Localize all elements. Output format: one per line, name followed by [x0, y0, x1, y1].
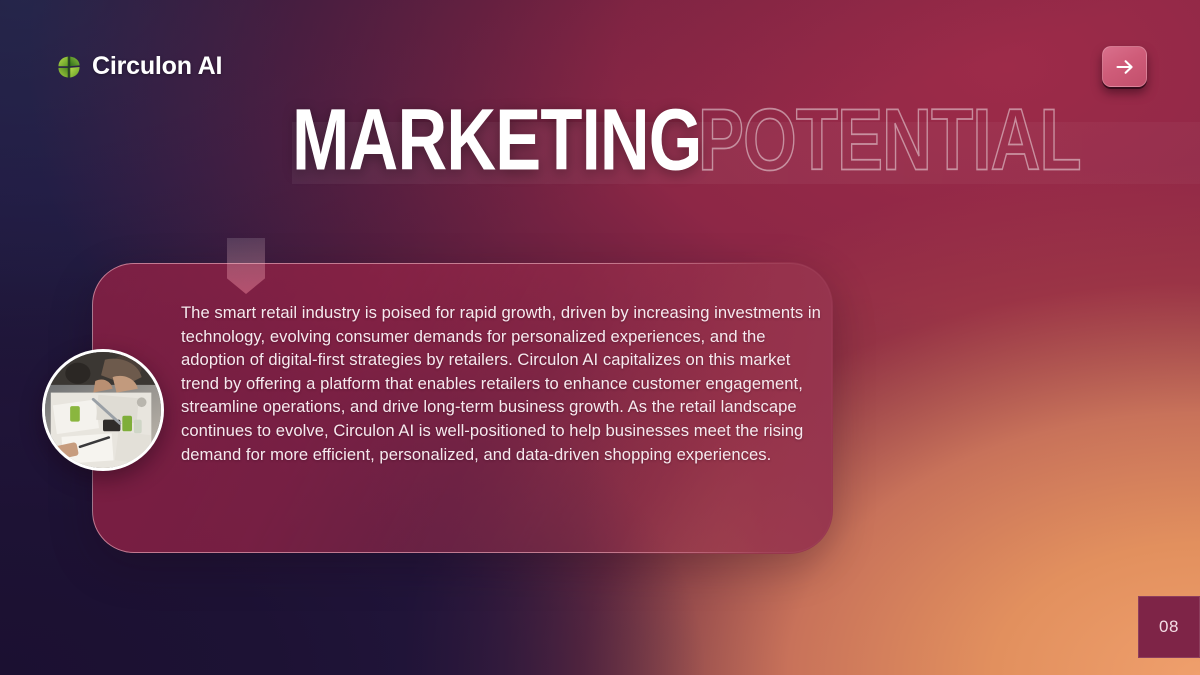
- slide-canvas: Circulon AI MARKETING POTENTIAL The smar…: [0, 0, 1200, 675]
- page-number-badge: 08: [1138, 596, 1200, 658]
- brand-logo: Circulon AI: [56, 52, 222, 81]
- title-solid-word: MARKETING: [292, 99, 702, 182]
- brand-name: Circulon AI: [92, 52, 222, 81]
- card-body-text: The smart retail industry is poised for …: [181, 301, 823, 466]
- page-number: 08: [1159, 617, 1179, 637]
- arrow-right-icon: [1113, 55, 1137, 79]
- team-working-at-desk-photo: [42, 349, 164, 471]
- page-title: MARKETING POTENTIAL: [292, 104, 1153, 182]
- next-slide-button[interactable]: [1102, 46, 1147, 87]
- pinwheel-leaf-icon: [56, 54, 82, 80]
- title-outline-word: POTENTIAL: [698, 99, 1081, 182]
